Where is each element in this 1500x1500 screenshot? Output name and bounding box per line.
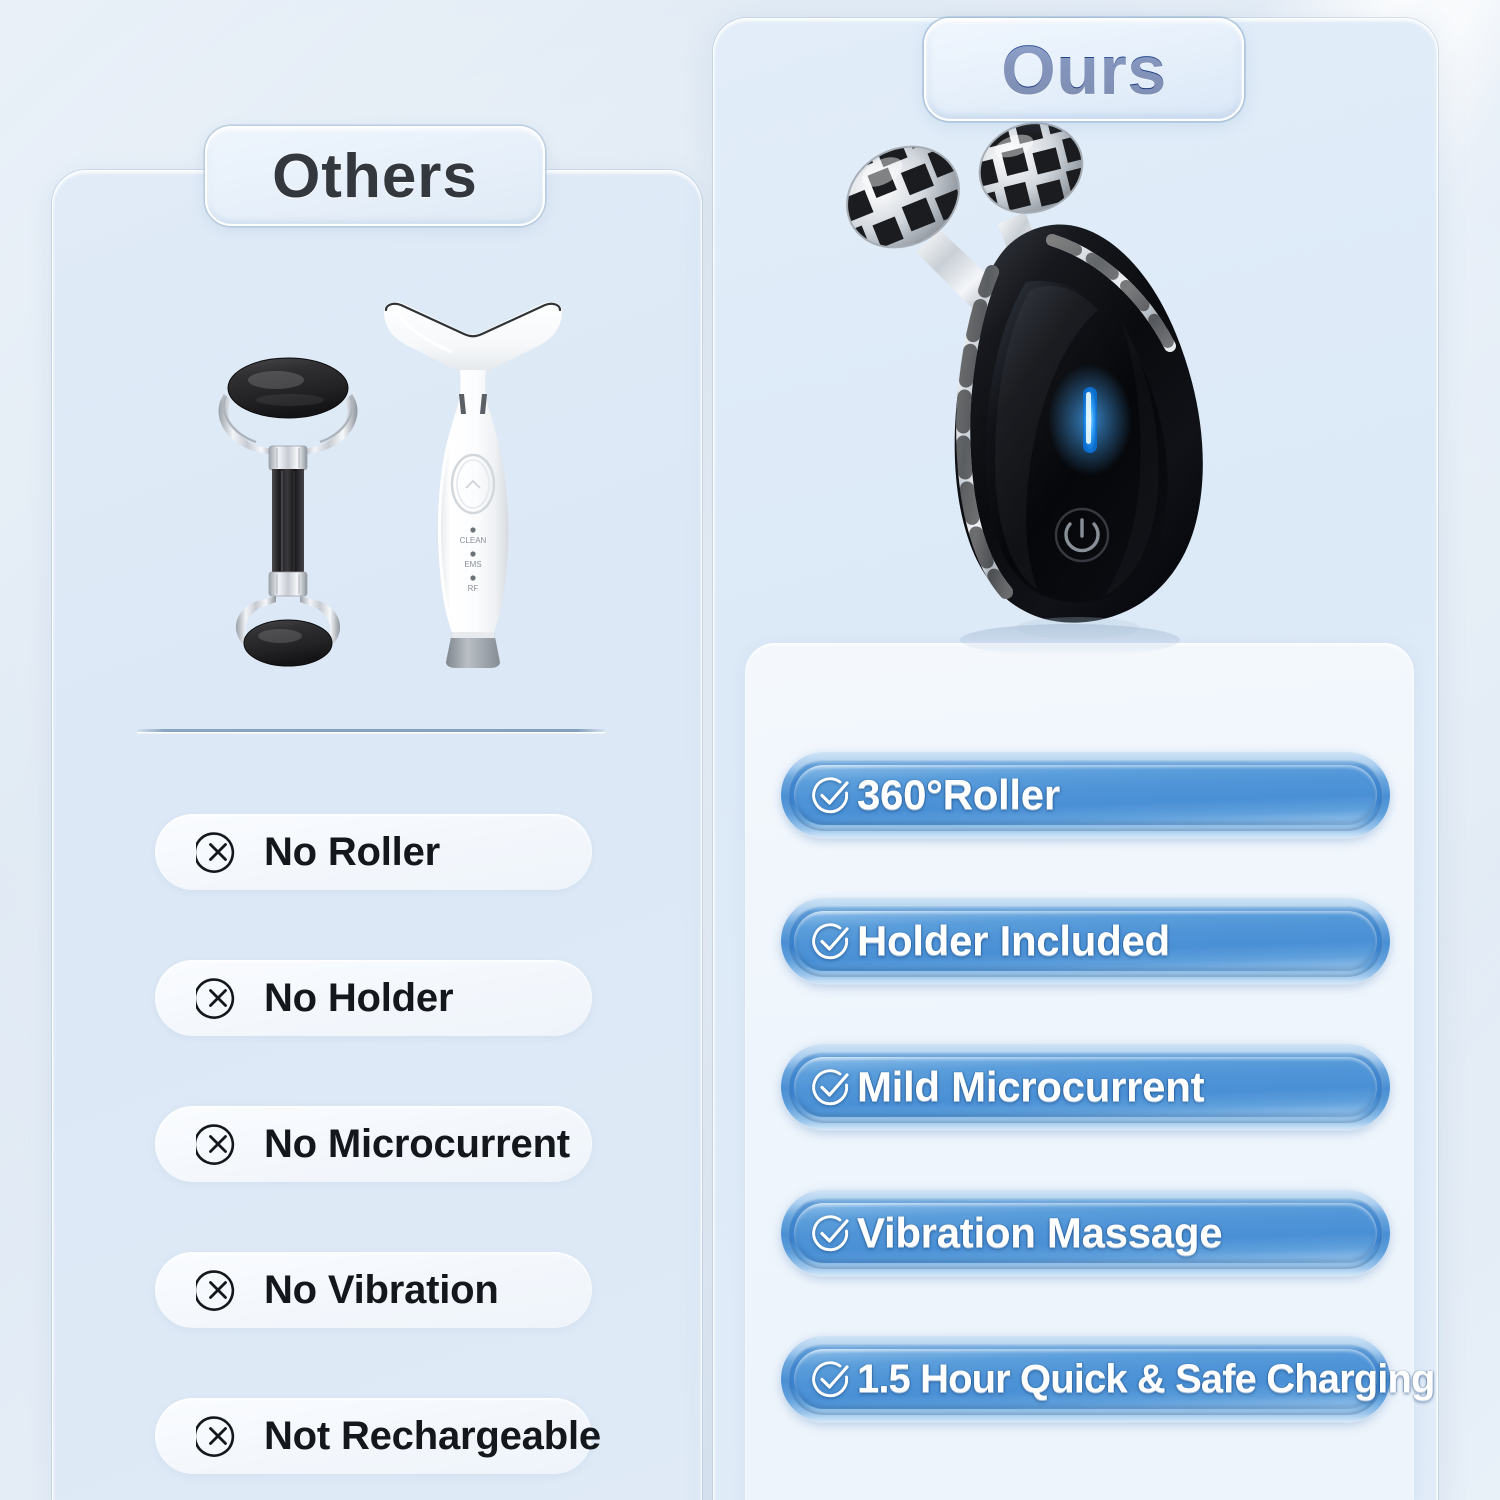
jade-roller-image: [198, 338, 378, 668]
check-circle-icon: [807, 1209, 855, 1257]
others-feature-list: No Roller No Holder No Microcurrent: [155, 814, 595, 1474]
ours-feature-item[interactable]: 1.5 Hour Quick & Safe Charging: [781, 1336, 1390, 1422]
others-feature-label: No Microcurrent: [264, 1122, 570, 1167]
ours-feature-label: 360°Roller: [857, 771, 1060, 819]
x-circle-icon: [196, 1414, 240, 1458]
others-feature-item[interactable]: No Microcurrent: [155, 1106, 592, 1182]
others-feature-item[interactable]: No Holder: [155, 960, 592, 1036]
others-feature-item[interactable]: No Vibration: [155, 1252, 592, 1328]
check-circle-icon: [807, 917, 855, 965]
ours-feature-item[interactable]: 360°Roller: [781, 752, 1390, 838]
others-divider: [137, 729, 605, 732]
x-circle-icon: [196, 830, 240, 874]
ours-badge: Ours: [924, 18, 1244, 121]
ours-feature-content: 360°Roller: [807, 771, 1060, 819]
ours-feature-item[interactable]: Mild Microcurrent: [781, 1044, 1390, 1130]
others-feature-item[interactable]: Not Rechargeable: [155, 1398, 592, 1474]
ours-feature-item[interactable]: Holder Included: [781, 898, 1390, 984]
ours-feature-label: Mild Microcurrent: [857, 1063, 1204, 1111]
check-circle-icon: [807, 1355, 855, 1403]
device-mode-label-clean: CLEAN: [460, 536, 487, 545]
others-feature-item[interactable]: No Roller: [155, 814, 592, 890]
others-feature-label: Not Rechargeable: [264, 1414, 601, 1459]
others-badge: Others: [205, 126, 545, 226]
x-circle-icon: [196, 1268, 240, 1312]
ours-feature-list: 360°Roller Holder Included: [781, 752, 1390, 1422]
x-circle-icon: [196, 1122, 240, 1166]
x-circle-icon: [196, 976, 240, 1020]
ours-feature-item[interactable]: Vibration Massage: [781, 1190, 1390, 1276]
others-feature-label: No Vibration: [264, 1268, 499, 1313]
ours-feature-content: 1.5 Hour Quick & Safe Charging: [807, 1355, 1435, 1403]
ours-feature-label: Vibration Massage: [857, 1209, 1222, 1257]
check-circle-icon: [807, 1063, 855, 1111]
others-badge-label: Others: [272, 141, 478, 212]
others-feature-label: No Roller: [264, 830, 440, 875]
ours-product-image: [820, 120, 1270, 665]
comparison-infographic: CLEAN EMS RF Others No Roller: [0, 0, 1500, 1500]
device-mode-label-rf: RF: [468, 584, 479, 593]
check-circle-icon: [807, 771, 855, 819]
others-feature-label: No Holder: [264, 976, 453, 1021]
ours-feature-label: Holder Included: [857, 917, 1170, 965]
neck-beauty-device-image: CLEAN EMS RF: [378, 298, 568, 670]
ours-feature-label: 1.5 Hour Quick & Safe Charging: [857, 1357, 1435, 1402]
ours-badge-label: Ours: [1001, 30, 1166, 110]
ours-feature-content: Mild Microcurrent: [807, 1063, 1204, 1111]
ours-feature-content: Vibration Massage: [807, 1209, 1222, 1257]
others-product-images: CLEAN EMS RF: [180, 290, 600, 680]
ours-feature-content: Holder Included: [807, 917, 1170, 965]
device-mode-label-ems: EMS: [464, 560, 481, 569]
